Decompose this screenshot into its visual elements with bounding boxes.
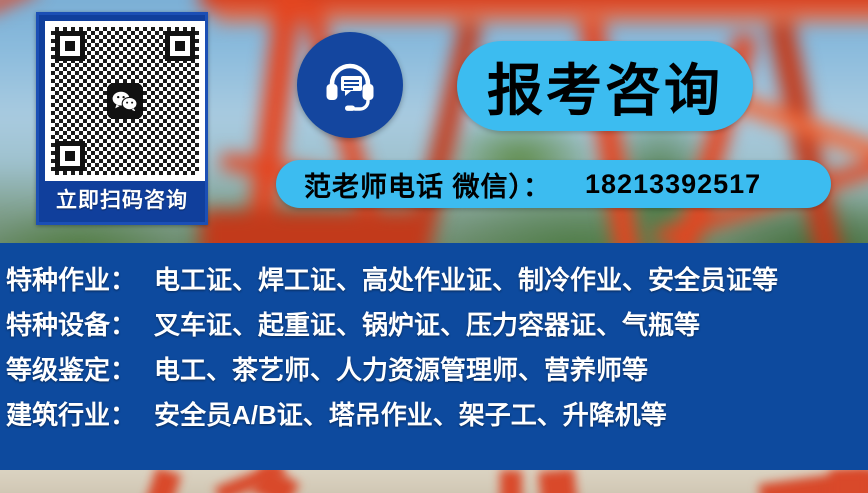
background-photo-bottom xyxy=(0,470,868,493)
title-pill: 报考咨询 xyxy=(457,41,753,131)
category-row-construction-industry: 建筑行业： 安全员A/B证、塔吊作业、架子工、升降机等 xyxy=(6,395,868,440)
wechat-icon xyxy=(107,83,143,119)
category-label: 特种作业： xyxy=(6,260,154,297)
bottom-ground-layer xyxy=(0,470,868,493)
qr-caption: 立即扫码咨询 xyxy=(45,181,199,221)
category-row-special-operations: 特种作业： 电工证、焊工证、高处作业证、制冷作业、安全员证等 xyxy=(6,260,868,305)
qr-code-image[interactable] xyxy=(45,21,205,181)
title-pill-text: 报考咨询 xyxy=(487,46,723,127)
category-row-grade-certification: 等级鉴定： 电工、茶艺师、人力资源管理师、营养师等 xyxy=(6,350,868,395)
category-value: 叉车证、起重证、锅炉证、压力容器证、气瓶等 xyxy=(154,305,868,342)
qr-matrix xyxy=(51,27,199,175)
qr-finder-bottom-left xyxy=(55,141,85,171)
qr-finder-top-right xyxy=(165,31,195,61)
category-value: 电工证、焊工证、高处作业证、制冷作业、安全员证等 xyxy=(154,260,868,297)
category-value: 电工、茶艺师、人力资源管理师、营养师等 xyxy=(154,350,868,387)
promo-poster: 立即扫码咨询 报考咨询 范老师电话 微信）： 18213392517 特种作业：… xyxy=(0,0,868,493)
category-value: 安全员A/B证、塔吊作业、架子工、升降机等 xyxy=(154,395,868,432)
category-label: 建筑行业： xyxy=(6,395,154,432)
category-row-special-equipment: 特种设备： 叉车证、起重证、锅炉证、压力容器证、气瓶等 xyxy=(6,305,868,350)
headset-support-icon xyxy=(297,32,403,138)
contact-pill[interactable]: 范老师电话 微信）： 18213392517 xyxy=(276,160,831,208)
contact-label: 范老师电话 微信）： xyxy=(304,165,551,204)
course-categories-panel: 特种作业： 电工证、焊工证、高处作业证、制冷作业、安全员证等 特种设备： 叉车证… xyxy=(0,243,868,470)
category-label: 特种设备： xyxy=(6,305,154,342)
contact-phone-number[interactable]: 18213392517 xyxy=(585,169,761,200)
category-label: 等级鉴定： xyxy=(6,350,154,387)
qr-finder-top-left xyxy=(55,31,85,61)
qr-code-card[interactable]: 立即扫码咨询 xyxy=(36,12,208,225)
